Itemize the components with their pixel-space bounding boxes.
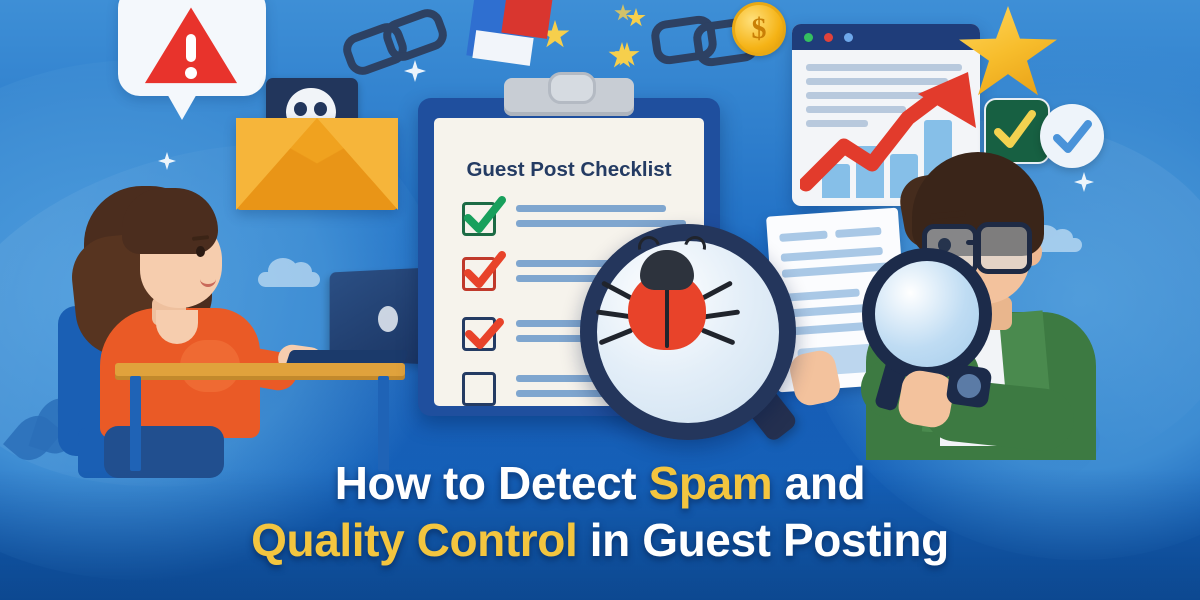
browser-dot-blue[interactable]	[844, 33, 853, 42]
browser-dot-red[interactable]	[824, 33, 833, 42]
speech-bubble-tail	[166, 92, 198, 120]
title-highlight: Spam	[649, 457, 773, 509]
sparkle-star-icon	[614, 42, 640, 68]
checklist-checkbox[interactable]	[462, 372, 496, 406]
green-checkbox-tick	[992, 108, 1038, 152]
laptop-logo	[378, 306, 398, 332]
blue-check-tick	[1052, 118, 1094, 156]
checklist-tick-red	[462, 310, 508, 354]
document-line	[779, 231, 827, 242]
magnet-pole-red	[501, 0, 556, 39]
title-part: How to Detect	[335, 457, 649, 509]
sparkle-star-icon	[158, 152, 176, 170]
checklist-tick-red	[462, 247, 508, 291]
eyeglasses-icon	[976, 222, 1032, 274]
browser-dot-green[interactable]	[804, 33, 813, 42]
eyeglasses-bridge	[966, 240, 980, 245]
document-line	[835, 227, 881, 238]
title-line-1: How to Detect Spam and	[0, 455, 1200, 512]
clipboard-title: Guest Post Checklist	[434, 158, 704, 182]
magnifier-icon	[862, 248, 992, 380]
desk	[115, 363, 405, 376]
clipboard-clip-knob	[548, 72, 596, 104]
document-line	[786, 322, 874, 336]
sparkle-star-icon	[626, 8, 646, 28]
checklist-line	[516, 220, 686, 227]
browser-titlebar	[792, 24, 980, 50]
title-part: in Guest Posting	[577, 514, 948, 566]
skull-eye	[314, 102, 327, 116]
checklist-line	[516, 205, 666, 212]
title-line-2: Quality Control in Guest Posting	[0, 512, 1200, 569]
sparkle-star-icon	[1074, 172, 1094, 192]
sparkle-star-icon	[404, 60, 426, 82]
woman-at-laptop	[60, 178, 410, 478]
warning-exclamation-dot	[185, 67, 197, 79]
checklist-tick-green	[462, 192, 508, 236]
eye	[196, 246, 205, 257]
envelope-flap-left	[236, 118, 317, 210]
envelope-flap-right	[317, 118, 398, 210]
hair-front	[122, 188, 218, 254]
title-highlight: Quality Control	[251, 514, 577, 566]
sparkle-star-icon	[614, 4, 632, 22]
warning-exclamation-bar	[186, 34, 196, 62]
document-line	[781, 247, 883, 262]
dollar-coin-icon: $	[732, 2, 786, 56]
document-line	[783, 288, 859, 301]
banner-title: How to Detect Spam and Quality Control i…	[0, 455, 1200, 569]
title-part: and	[772, 457, 865, 509]
banner-image: SPAM $	[0, 0, 1200, 600]
skull-eye	[294, 102, 307, 116]
sparkle-star-icon	[608, 42, 636, 70]
dollar-symbol: $	[735, 5, 783, 53]
